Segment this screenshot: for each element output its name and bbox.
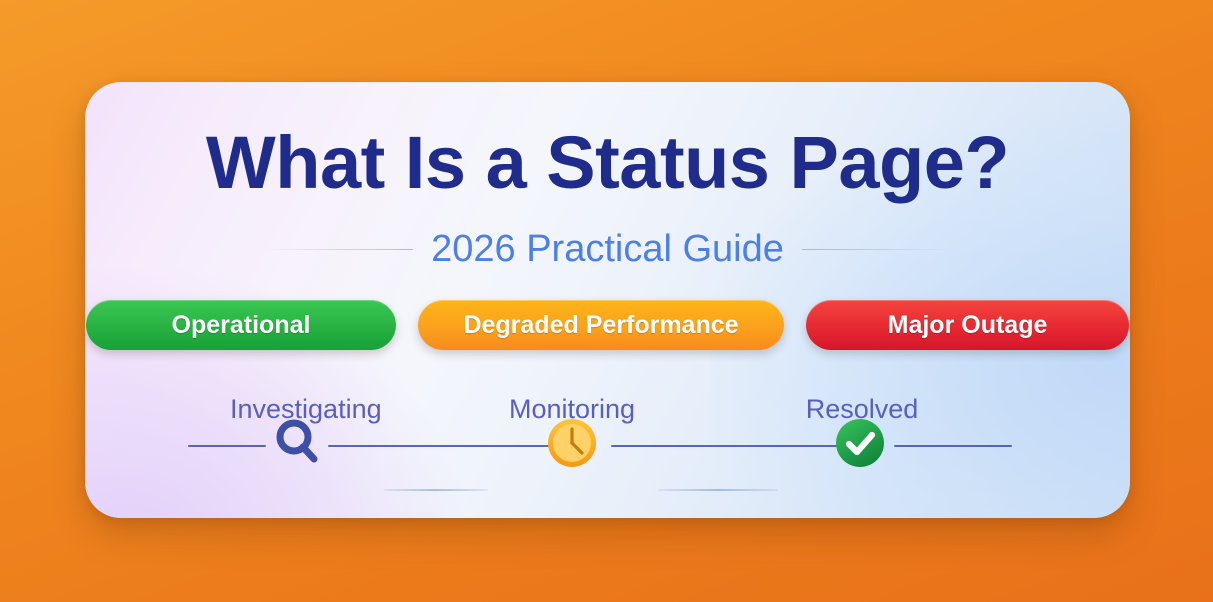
page-subtitle: 2026 Practical Guide: [431, 230, 784, 268]
card-content: What Is a Status Page? 2026 Practical Gu…: [85, 82, 1130, 518]
subtitle-rule-left: [263, 249, 413, 250]
timeline-label-monitoring: Monitoring: [502, 394, 642, 425]
status-pill-operational[interactable]: Operational: [86, 300, 396, 350]
poster-canvas: What Is a Status Page? 2026 Practical Gu…: [0, 0, 1213, 602]
timeline-label-investigating: Investigating: [230, 394, 370, 425]
timeline-label-rule-2: [658, 489, 778, 491]
status-pill-major-outage[interactable]: Major Outage: [806, 300, 1129, 350]
timeline-label-rule-1: [384, 489, 488, 491]
status-pill-group: Operational Degraded Performance Major O…: [85, 300, 1130, 350]
subtitle-row: 2026 Practical Guide: [85, 230, 1130, 268]
timeline-label-resolved: Resolved: [792, 394, 932, 425]
status-pill-degraded-performance[interactable]: Degraded Performance: [418, 300, 784, 350]
subtitle-rule-right: [802, 249, 952, 250]
page-title: What Is a Status Page?: [85, 126, 1130, 200]
status-page-card: What Is a Status Page? 2026 Practical Gu…: [85, 82, 1130, 518]
incident-timeline: Investigating Monitoring Resolved: [188, 394, 1012, 504]
